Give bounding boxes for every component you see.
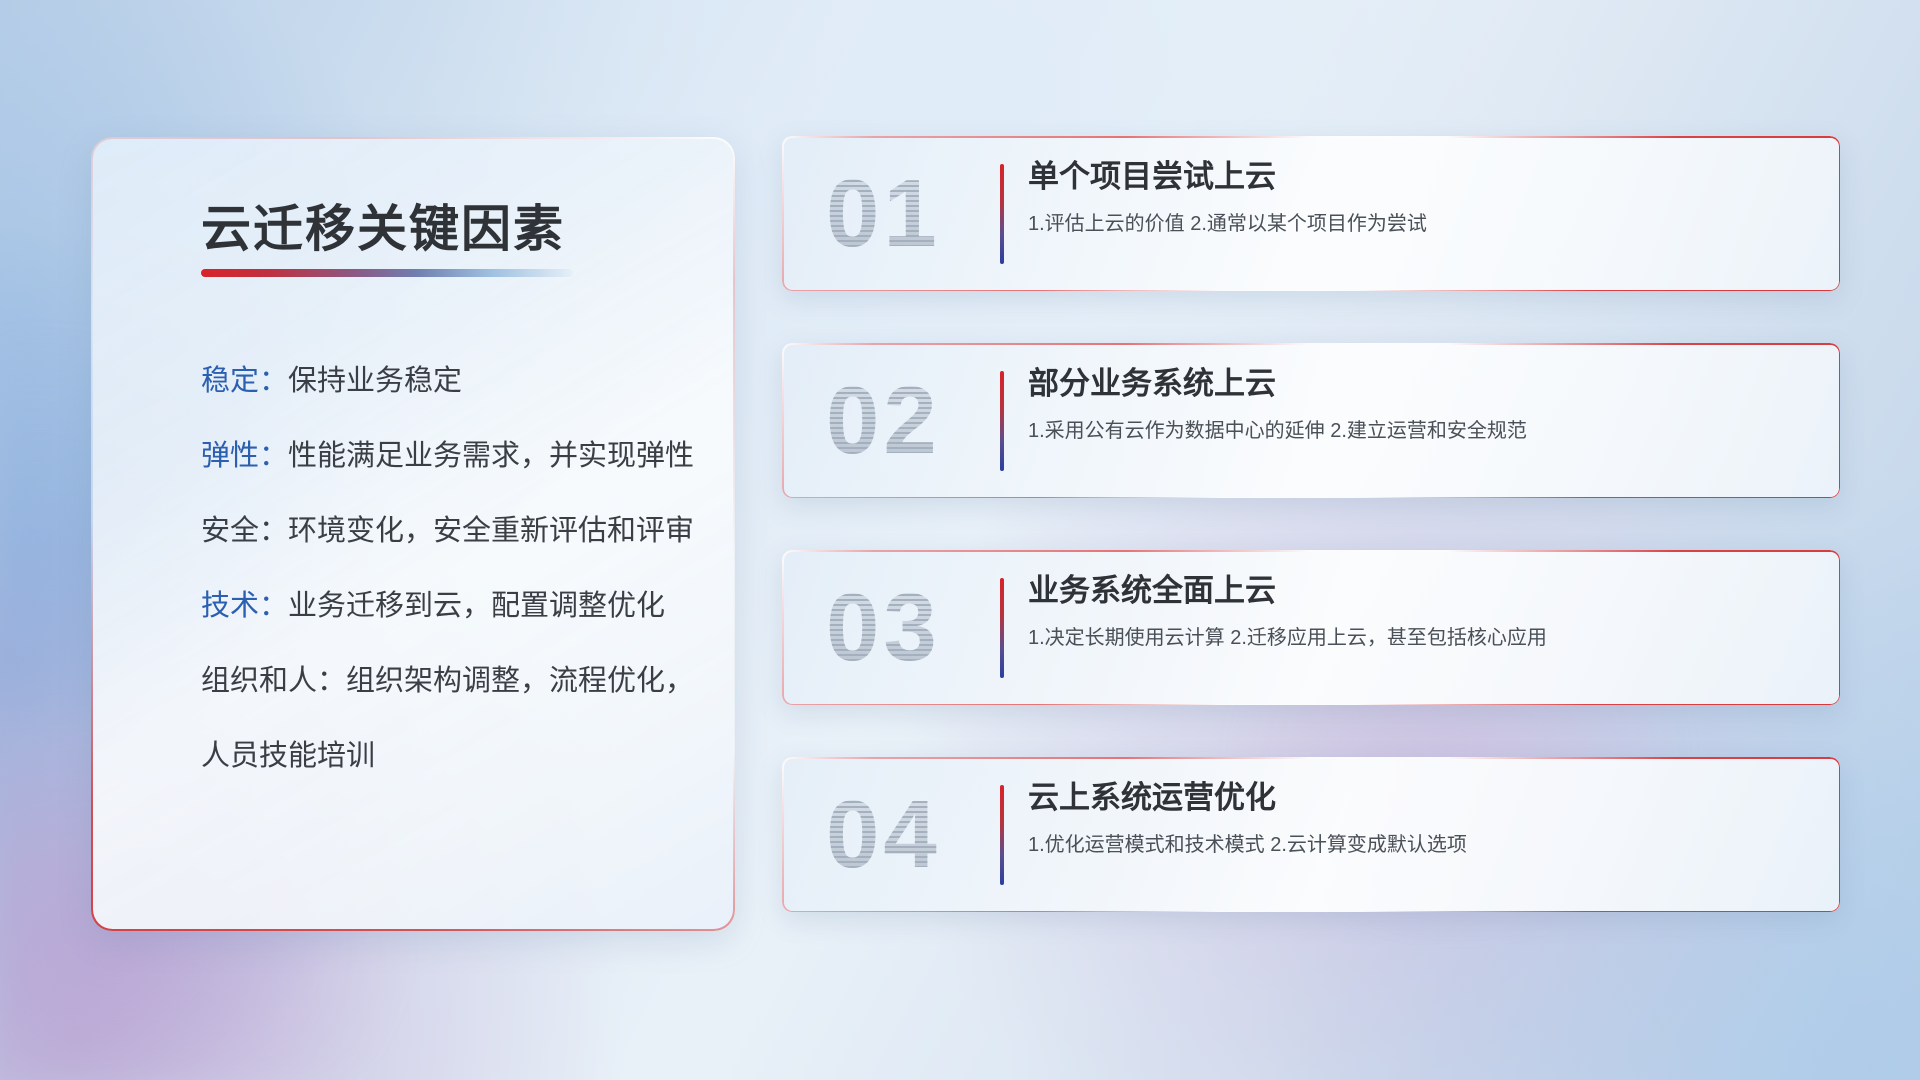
step-text-block: 云上系统运营优化 1.优化运营模式和技术模式 2.云计算变成默认选项 xyxy=(1028,779,1814,858)
step-card[interactable]: 02 部分业务系统上云 1.采用公有云作为数据中心的延伸 2.建立运营和安全规范 xyxy=(782,343,1840,498)
key-factors-card: 云迁移关键因素 稳定：保持业务稳定 弹性：性能满足业务需求，并实现弹性 安全：环… xyxy=(92,138,734,930)
step-text-block: 业务系统全面上云 1.决定长期使用云计算 2.迁移应用上云，甚至包括核心应用 xyxy=(1028,572,1814,651)
key-factors-list: 稳定：保持业务稳定 弹性：性能满足业务需求，并实现弹性 安全：环境变化，安全重新… xyxy=(201,367,699,771)
step-accent-bar xyxy=(1000,371,1004,471)
slide-stage: 云迁移关键因素 稳定：保持业务稳定 弹性：性能满足业务需求，并实现弹性 安全：环… xyxy=(0,0,1920,1080)
step-card[interactable]: 04 云上系统运营优化 1.优化运营模式和技术模式 2.云计算变成默认选项 xyxy=(782,757,1840,912)
title-divider xyxy=(201,269,573,277)
list-item-key: 稳定： xyxy=(201,365,288,397)
step-number: 03 xyxy=(826,580,941,676)
step-card[interactable]: 01 单个项目尝试上云 1.评估上云的价值 2.通常以某个项目作为尝试 xyxy=(782,136,1840,291)
list-item: 技术：业务迁移到云，配置调整优化 xyxy=(201,592,699,621)
step-card[interactable]: 03 业务系统全面上云 1.决定长期使用云计算 2.迁移应用上云，甚至包括核心应… xyxy=(782,550,1840,705)
step-description: 1.评估上云的价值 2.通常以某个项目作为尝试 xyxy=(1028,211,1814,237)
steps-column: 01 单个项目尝试上云 1.评估上云的价值 2.通常以某个项目作为尝试 02 部… xyxy=(782,136,1840,912)
step-description: 1.优化运营模式和技术模式 2.云计算变成默认选项 xyxy=(1028,832,1814,858)
list-item-value: 人员技能培训 xyxy=(201,740,375,772)
list-item-key: 技术： xyxy=(201,590,288,622)
list-item-value: 保持业务稳定 xyxy=(288,365,462,397)
list-item: 安全：环境变化，安全重新评估和评审 xyxy=(201,517,699,546)
list-item: 组织和人：组织架构调整，流程优化， xyxy=(201,667,699,696)
step-accent-bar xyxy=(1000,785,1004,885)
list-item: 弹性：性能满足业务需求，并实现弹性 xyxy=(201,442,699,471)
step-title: 单个项目尝试上云 xyxy=(1028,158,1814,195)
step-title: 部分业务系统上云 xyxy=(1028,365,1814,402)
list-item: 稳定：保持业务稳定 xyxy=(201,367,699,396)
list-item-value: 业务迁移到云，配置调整优化 xyxy=(288,590,665,622)
page-title: 云迁移关键因素 xyxy=(201,189,565,261)
list-item-value: 性能满足业务需求，并实现弹性 xyxy=(288,440,694,472)
step-text-block: 单个项目尝试上云 1.评估上云的价值 2.通常以某个项目作为尝试 xyxy=(1028,158,1814,237)
step-description: 1.决定长期使用云计算 2.迁移应用上云，甚至包括核心应用 xyxy=(1028,625,1814,651)
step-number: 02 xyxy=(826,373,941,469)
step-number: 04 xyxy=(826,787,941,883)
list-item-value: 环境变化，安全重新评估和评审 xyxy=(288,515,694,547)
step-accent-bar xyxy=(1000,164,1004,264)
step-accent-bar xyxy=(1000,578,1004,678)
step-number: 01 xyxy=(826,166,941,262)
step-description: 1.采用公有云作为数据中心的延伸 2.建立运营和安全规范 xyxy=(1028,418,1814,444)
list-item-key: 弹性： xyxy=(201,440,288,472)
list-item-key: 组织和人： xyxy=(201,665,346,697)
step-text-block: 部分业务系统上云 1.采用公有云作为数据中心的延伸 2.建立运营和安全规范 xyxy=(1028,365,1814,444)
list-item-key: 安全： xyxy=(201,515,288,547)
step-title: 云上系统运营优化 xyxy=(1028,779,1814,816)
list-item: 人员技能培训 xyxy=(201,742,699,771)
step-title: 业务系统全面上云 xyxy=(1028,572,1814,609)
list-item-value: 组织架构调整，流程优化， xyxy=(346,665,694,697)
